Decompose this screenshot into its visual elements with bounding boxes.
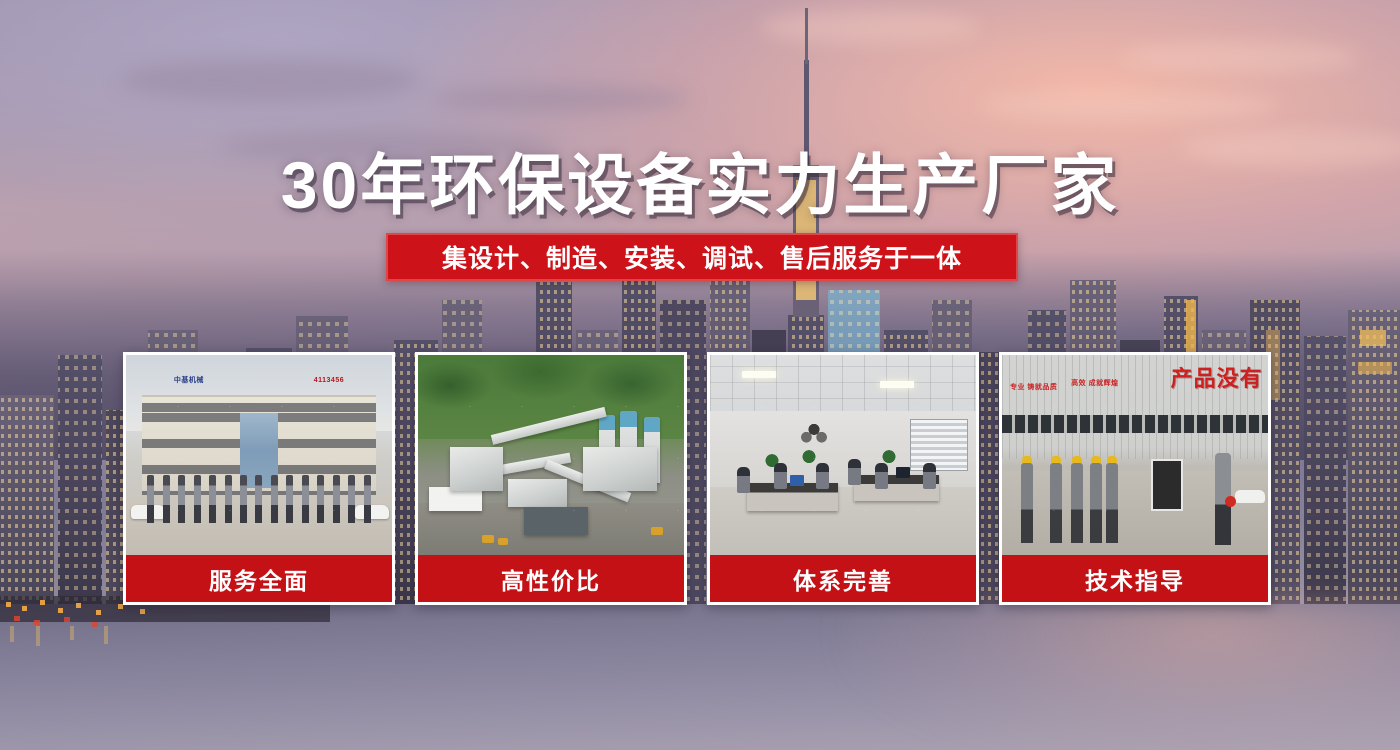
- river-sunset-reflection: [840, 600, 1400, 750]
- photo-industrial-plant: [418, 355, 684, 555]
- subtitle-banner: 集设计、制造、安装、调试、售后服务于一体: [386, 233, 1018, 281]
- card-caption: 高性价比: [418, 555, 684, 602]
- feature-card-value[interactable]: 高性价比: [415, 352, 687, 605]
- feature-card-training[interactable]: 产品没有 专业 铸就品质 高效 成就辉煌 技术指导: [999, 352, 1271, 605]
- feature-card-service[interactable]: 中基机械 4113456 服务全面: [123, 352, 395, 605]
- photo-factory-workers: 产品没有 专业 铸就品质 高效 成就辉煌: [1002, 355, 1268, 555]
- photo-headquarters-building: 中基机械 4113456: [126, 355, 392, 555]
- building-sign-name: 中基机械: [174, 375, 204, 385]
- factory-slogan-two: 高效 成就辉煌: [1071, 379, 1118, 390]
- riverbank-lights: [0, 596, 330, 666]
- factory-slogan-one: 专业 铸就品质: [1010, 383, 1057, 394]
- staff-lineup: [147, 475, 370, 523]
- factory-wall-sign: 产品没有: [1171, 361, 1263, 393]
- feature-card-row: 中基机械 4113456 服务全面: [123, 352, 1278, 605]
- feature-card-system[interactable]: 体系完善: [707, 352, 979, 605]
- photo-office-interior: [710, 355, 976, 555]
- promo-banner: 30年环保设备实力生产厂家 集设计、制造、安装、调试、售后服务于一体 中基机械 …: [0, 0, 1400, 750]
- wall-decal: [795, 419, 833, 445]
- card-caption: 技术指导: [1002, 555, 1268, 602]
- card-caption: 体系完善: [710, 555, 976, 602]
- building-sign: 中基机械 4113456: [174, 371, 344, 389]
- page-title: 30年环保设备实力生产厂家: [0, 132, 1400, 228]
- window-blinds: [910, 419, 969, 471]
- factory-door: [1151, 459, 1183, 511]
- card-caption: 服务全面: [126, 555, 392, 602]
- subtitle-text: 集设计、制造、安装、调试、售后服务于一体: [442, 239, 962, 275]
- building-sign-phone: 4113456: [314, 377, 344, 384]
